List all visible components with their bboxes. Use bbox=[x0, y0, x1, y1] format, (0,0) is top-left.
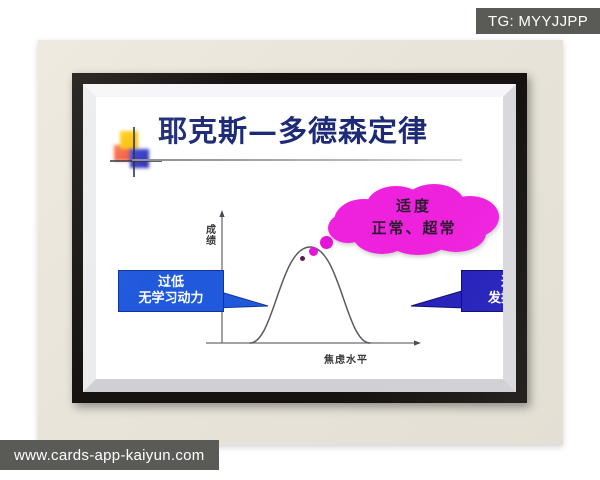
cloud-line-1: 适度 bbox=[324, 195, 503, 216]
watermark-bottom-left: www.cards-app-kaiyun.com bbox=[0, 440, 219, 470]
cloud-line-2: 正常、超常 bbox=[324, 217, 503, 238]
watermark-top-right: TG: MYYJJPP bbox=[476, 8, 600, 34]
callout-high-anxiety[interactable]: 过高 发挥失常 bbox=[399, 270, 503, 330]
callout-left-line1: 过低 bbox=[158, 275, 184, 291]
callout-right-box[interactable]: 过高 发挥失常 bbox=[461, 270, 503, 312]
thought-bubble-small-icon bbox=[300, 256, 305, 261]
thought-cloud: 适度 正常、超常 bbox=[324, 181, 503, 255]
callout-right-line2: 发挥失常 bbox=[488, 291, 503, 307]
x-axis-label: 焦虑水平 bbox=[324, 351, 368, 366]
slide-canvas: 耶克斯—多德森定律 成绩 焦虑水平 bbox=[96, 97, 503, 379]
screenshot-canvas: 耶克斯—多德森定律 成绩 焦虑水平 bbox=[0, 0, 600, 480]
callout-left-line2: 无学习动力 bbox=[138, 291, 203, 307]
callout-low-anxiety[interactable]: 过低 无学习动力 bbox=[118, 270, 288, 330]
thought-bubble-medium-icon bbox=[309, 247, 318, 256]
picture-frame: 耶克斯—多德森定律 成绩 焦虑水平 bbox=[72, 73, 527, 403]
callout-left-box[interactable]: 过低 无学习动力 bbox=[118, 270, 224, 312]
frame-mat: 耶克斯—多德森定律 成绩 焦虑水平 bbox=[83, 84, 516, 392]
y-axis-label: 成绩 bbox=[205, 225, 217, 247]
callout-right-line1: 过高 bbox=[501, 275, 503, 291]
